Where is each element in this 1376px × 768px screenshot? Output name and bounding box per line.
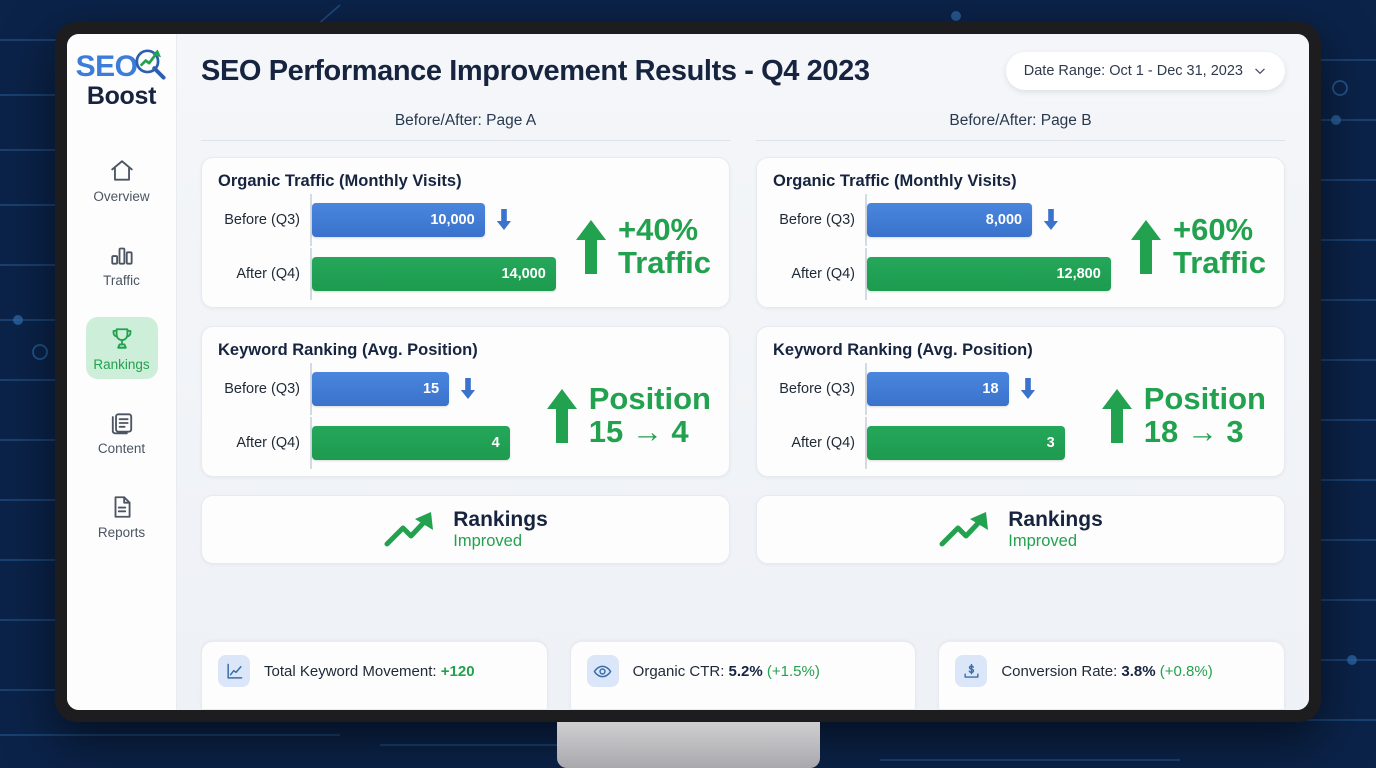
chart-row: Before (Q3) 8,000 <box>773 203 1268 291</box>
bar-track: 12,800 <box>865 248 1121 300</box>
sidebar-item-traffic[interactable]: Traffic <box>86 233 158 295</box>
chart-row: Before (Q3) 10,000 <box>218 203 713 291</box>
summary-callout: Position 15 → 4 <box>537 383 713 449</box>
badge-subtitle: Improved <box>1008 532 1103 551</box>
rankings-improved-card-page-b: Rankings Improved <box>756 495 1285 564</box>
date-range-label: Date Range: Oct 1 - Dec 31, 2023 <box>1024 63 1243 79</box>
sidebar-item-label: Traffic <box>103 273 140 288</box>
bar-value: 15 <box>423 381 439 397</box>
documents-icon <box>109 410 135 436</box>
screen: SEO Boost Overview <box>67 34 1309 710</box>
bar-label: Before (Q3) <box>773 381 865 397</box>
bar-before: 10,000 <box>312 203 485 237</box>
traffic-card-page-a: Organic Traffic (Monthly Visits) Before … <box>201 157 730 308</box>
card-title: Organic Traffic (Monthly Visits) <box>218 172 713 191</box>
sidebar-item-reports[interactable]: Reports <box>86 485 158 547</box>
arrow-up-icon <box>545 389 579 443</box>
arrow-up-icon <box>1100 389 1134 443</box>
bar-track: 18 <box>865 363 1092 415</box>
summary-line-1: +60% <box>1173 214 1266 247</box>
trend-up-arrow-icon <box>938 510 992 550</box>
stats-strip: Total Keyword Movement: +120 Organic CTR… <box>201 641 1285 710</box>
brand-name-boost: Boost <box>76 84 168 109</box>
bar-row-after: After (Q4) 3 <box>773 426 1092 460</box>
bar-chart-icon <box>109 242 135 268</box>
bar-value: 4 <box>492 435 500 451</box>
stat-prefix: Total Keyword Movement: <box>264 663 441 680</box>
bar-row-before: Before (Q3) 10,000 <box>218 203 566 237</box>
bar-track: 10,000 <box>310 194 566 246</box>
sidebar-item-label: Overview <box>93 189 149 204</box>
summary-line-2: 18 → 3 <box>1144 416 1266 449</box>
bar-after: 4 <box>312 426 510 460</box>
summary-callout: +60% Traffic <box>1121 214 1268 280</box>
stat-value: 5.2% <box>729 663 763 680</box>
bar-label: Before (Q3) <box>218 381 310 397</box>
stat-delta: (+1.5%) <box>767 663 820 680</box>
badge-title: Rankings <box>453 508 548 532</box>
eye-icon <box>587 655 619 687</box>
bar-label: After (Q4) <box>773 266 865 282</box>
chart-row: Before (Q3) 18 <box>773 372 1268 460</box>
stat-conversion-rate: Conversion Rate: 3.8% (+0.8%) <box>938 641 1285 710</box>
bar-value: 12,800 <box>1056 266 1100 282</box>
traffic-card-page-b: Organic Traffic (Monthly Visits) Before … <box>756 157 1285 308</box>
bar-row-after: After (Q4) 4 <box>218 426 537 460</box>
card-title: Keyword Ranking (Avg. Position) <box>218 341 713 360</box>
page-title: SEO Performance Improvement Results - Q4… <box>201 55 870 88</box>
summary-line-1: Position <box>1144 383 1266 416</box>
bar-chart: Before (Q3) 10,000 <box>218 203 566 291</box>
bar-before: 8,000 <box>867 203 1032 237</box>
rankings-improved-card-page-a: Rankings Improved <box>201 495 730 564</box>
stat-text: Total Keyword Movement: +120 <box>264 663 475 680</box>
bar-value: 18 <box>982 381 998 397</box>
dollar-inbox-icon <box>955 655 987 687</box>
brand-logo: SEO Boost <box>76 52 168 109</box>
summary-line-2: Traffic <box>618 247 711 280</box>
summary-line-1: +40% <box>618 214 711 247</box>
column-heading: Before/After: Page B <box>756 112 1285 141</box>
bar-before: 18 <box>867 372 1009 406</box>
stat-prefix: Conversion Rate: <box>1001 663 1121 680</box>
top-bar: SEO Performance Improvement Results - Q4… <box>201 52 1285 90</box>
bar-value: 10,000 <box>430 212 474 228</box>
home-icon <box>109 158 135 184</box>
comparison-columns: Before/After: Page A Organic Traffic (Mo… <box>201 112 1285 641</box>
bar-track: 3 <box>865 417 1092 469</box>
trophy-icon <box>109 326 135 352</box>
arrow-up-icon <box>1129 220 1163 274</box>
column-page-a: Before/After: Page A Organic Traffic (Mo… <box>201 112 730 641</box>
ranking-card-page-a: Keyword Ranking (Avg. Position) Before (… <box>201 326 730 477</box>
bar-chart: Before (Q3) 8,000 <box>773 203 1121 291</box>
bar-label: After (Q4) <box>218 266 310 282</box>
bar-row-before: Before (Q3) 8,000 <box>773 203 1121 237</box>
stat-value: 3.8% <box>1121 663 1155 680</box>
sidebar-item-label: Reports <box>98 525 145 540</box>
chart-row: Before (Q3) 15 <box>218 372 713 460</box>
sidebar-item-overview[interactable]: Overview <box>86 149 158 211</box>
bar-after: 14,000 <box>312 257 556 291</box>
card-title: Keyword Ranking (Avg. Position) <box>773 341 1268 360</box>
arrow-down-icon <box>495 209 513 231</box>
laptop-base <box>557 722 820 768</box>
bar-value: 8,000 <box>986 212 1022 228</box>
summary-callout: +40% Traffic <box>566 214 713 280</box>
bar-value: 3 <box>1047 435 1055 451</box>
column-heading: Before/After: Page A <box>201 112 730 141</box>
date-range-selector[interactable]: Date Range: Oct 1 - Dec 31, 2023 <box>1006 52 1285 90</box>
bar-track: 14,000 <box>310 248 566 300</box>
summary-line-1: Position <box>589 383 711 416</box>
stat-organic-ctr: Organic CTR: 5.2% (+1.5%) <box>570 641 917 710</box>
sidebar-item-content[interactable]: Content <box>86 401 158 463</box>
report-file-icon <box>109 494 135 520</box>
arrow-up-icon <box>574 220 608 274</box>
bar-chart: Before (Q3) 18 <box>773 372 1092 460</box>
column-page-b: Before/After: Page B Organic Traffic (Mo… <box>756 112 1285 641</box>
stat-value: +120 <box>441 663 475 680</box>
line-chart-icon <box>218 655 250 687</box>
stat-text: Organic CTR: 5.2% (+1.5%) <box>633 663 820 680</box>
bar-after: 12,800 <box>867 257 1111 291</box>
summary-line-2: 15 → 4 <box>589 416 711 449</box>
stat-delta: (+0.8%) <box>1160 663 1213 680</box>
bar-track: 4 <box>310 417 537 469</box>
main-content: SEO Performance Improvement Results - Q4… <box>177 34 1309 710</box>
trend-up-arrow-icon <box>383 510 437 550</box>
sidebar-item-label: Rankings <box>93 357 149 372</box>
arrow-down-icon <box>1019 378 1037 400</box>
laptop-frame: SEO Boost Overview <box>55 22 1321 722</box>
bar-label: After (Q4) <box>773 435 865 451</box>
stat-total-keyword-movement: Total Keyword Movement: +120 <box>201 641 548 710</box>
badge-title: Rankings <box>1008 508 1103 532</box>
bar-row-after: After (Q4) 12,800 <box>773 257 1121 291</box>
chevron-down-icon <box>1253 64 1267 78</box>
bar-before: 15 <box>312 372 449 406</box>
bar-track: 8,000 <box>865 194 1121 246</box>
arrow-down-icon <box>1042 209 1060 231</box>
bar-row-before: Before (Q3) 18 <box>773 372 1092 406</box>
bar-label: Before (Q3) <box>773 212 865 228</box>
summary-callout: Position 18 → 3 <box>1092 383 1268 449</box>
bar-row-before: Before (Q3) 15 <box>218 372 537 406</box>
bar-row-after: After (Q4) 14,000 <box>218 257 566 291</box>
arrow-down-icon <box>459 378 477 400</box>
bar-track: 15 <box>310 363 537 415</box>
bar-label: Before (Q3) <box>218 212 310 228</box>
magnifier-trend-icon <box>133 47 167 81</box>
stat-prefix: Organic CTR: <box>633 663 729 680</box>
bar-value: 14,000 <box>501 266 545 282</box>
sidebar-item-label: Content <box>98 441 145 456</box>
sidebar: SEO Boost Overview <box>67 34 177 710</box>
bar-after: 3 <box>867 426 1065 460</box>
brand-name-seo: SEO <box>76 52 138 82</box>
bar-chart: Before (Q3) 15 <box>218 372 537 460</box>
stat-text: Conversion Rate: 3.8% (+0.8%) <box>1001 663 1212 680</box>
sidebar-item-rankings[interactable]: Rankings <box>86 317 158 379</box>
ranking-card-page-b: Keyword Ranking (Avg. Position) Before (… <box>756 326 1285 477</box>
card-title: Organic Traffic (Monthly Visits) <box>773 172 1268 191</box>
badge-subtitle: Improved <box>453 532 548 551</box>
summary-line-2: Traffic <box>1173 247 1266 280</box>
bar-label: After (Q4) <box>218 435 310 451</box>
